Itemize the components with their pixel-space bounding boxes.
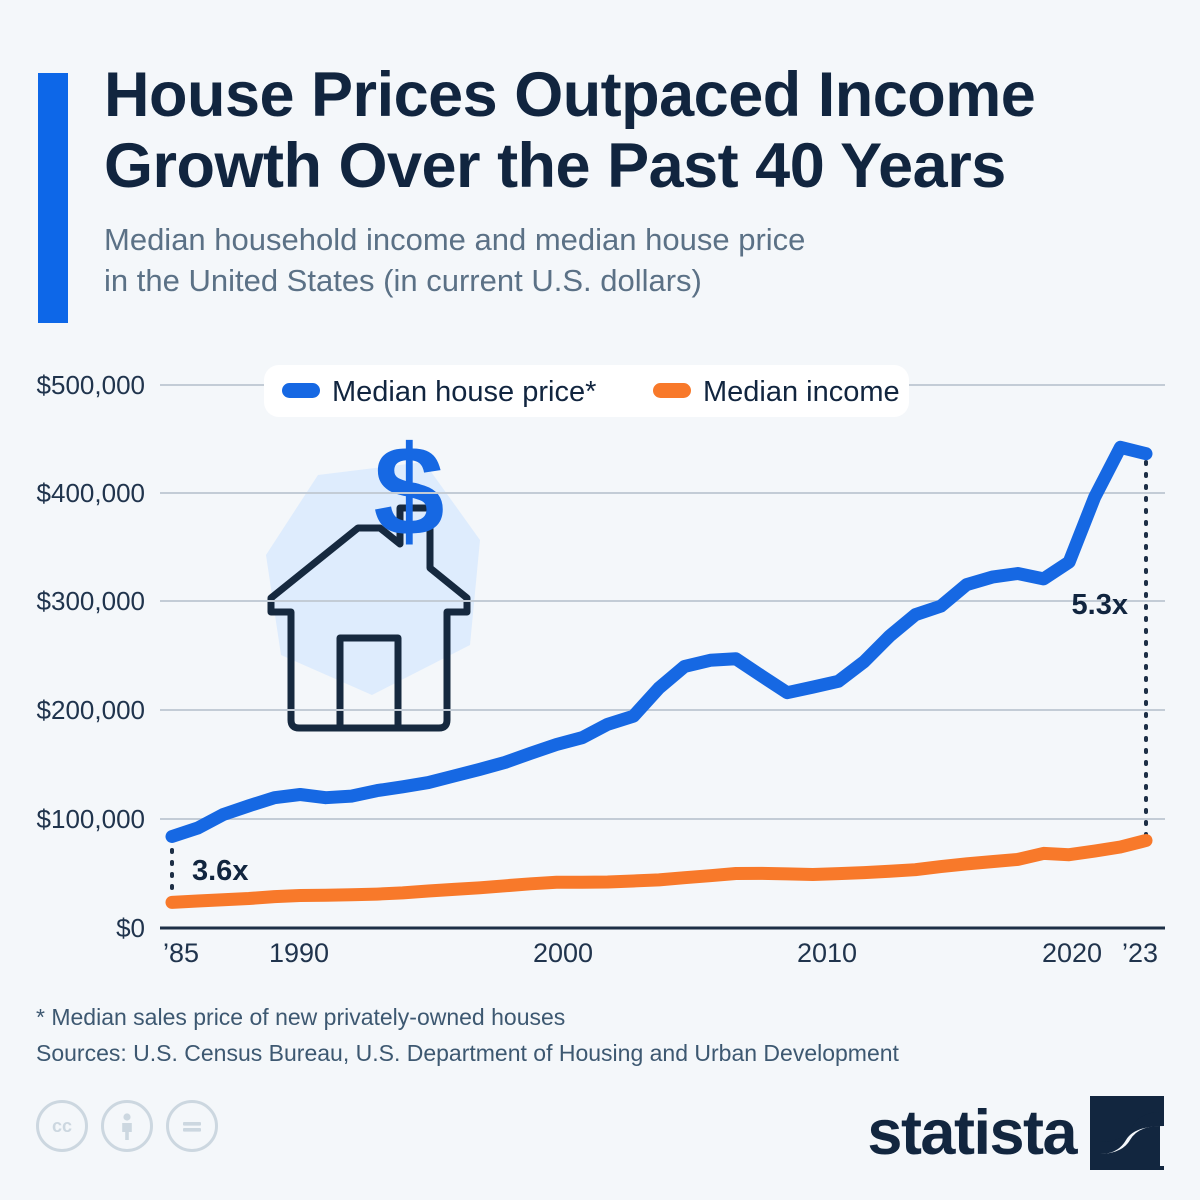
accent-bar — [38, 73, 68, 323]
annotation-5-3x: 5.3x — [1072, 589, 1128, 621]
dollar-sign-icon: $ — [373, 420, 444, 563]
y-tick-200k: $200,000 — [37, 695, 145, 725]
bottom-bar: cc statista — [0, 1090, 1200, 1190]
y-tick-500k: $500,000 — [37, 370, 145, 400]
cc-icon[interactable]: cc — [36, 1100, 88, 1152]
page-title: House Prices Outpaced Income Growth Over… — [104, 60, 1158, 201]
y-tick-0: $0 — [116, 913, 145, 943]
svg-text:cc: cc — [52, 1116, 72, 1136]
line-chart: $ $500,000 $400,000 $300,000 $200,000 $1… — [0, 350, 1200, 980]
footnote-text: * Median sales price of new privately-ow… — [36, 1000, 1136, 1036]
subtitle-line-2: in the United States (in current U.S. do… — [104, 260, 1158, 301]
median-income-line — [172, 841, 1146, 903]
chart-legend: Median house price* Median income — [264, 365, 909, 417]
annotation-3-6x: 3.6x — [192, 855, 248, 887]
legend-label-median-income: Median income — [703, 376, 900, 408]
footnotes: * Median sales price of new privately-ow… — [36, 1000, 1136, 1071]
x-tick-2023: ’23 — [1122, 938, 1158, 968]
legend-swatch-median-income — [653, 383, 691, 398]
header: House Prices Outpaced Income Growth Over… — [38, 60, 1158, 323]
header-text-group: House Prices Outpaced Income Growth Over… — [68, 60, 1158, 323]
statista-wordmark: statista — [867, 1102, 1076, 1165]
x-tick-1985: ’85 — [163, 938, 199, 968]
chart-container: $ $500,000 $400,000 $300,000 $200,000 $1… — [0, 350, 1200, 980]
y-tick-400k: $400,000 — [37, 478, 145, 508]
x-tick-2010: 2010 — [797, 938, 857, 968]
sources-text: Sources: U.S. Census Bureau, U.S. Depart… — [36, 1036, 1136, 1072]
page-subtitle: Median household income and median house… — [104, 219, 1158, 301]
house-watermark: $ — [266, 420, 480, 728]
legend-swatch-median-house-price — [282, 383, 320, 398]
x-tick-1990: 1990 — [269, 938, 329, 968]
subtitle-line-1: Median household income and median house… — [104, 219, 1158, 260]
statista-mark-icon — [1090, 1096, 1164, 1170]
y-tick-100k: $100,000 — [37, 804, 145, 834]
no-derivatives-equals-icon[interactable] — [166, 1100, 218, 1152]
infographic-root: House Prices Outpaced Income Growth Over… — [0, 0, 1200, 1200]
y-axis-labels: $500,000 $400,000 $300,000 $200,000 $100… — [37, 370, 145, 943]
svg-text:$: $ — [373, 420, 444, 563]
x-tick-2000: 2000 — [533, 938, 593, 968]
attribution-person-icon[interactable] — [101, 1100, 153, 1152]
statista-logo[interactable]: statista — [867, 1096, 1164, 1170]
creative-commons-icons: cc — [36, 1100, 218, 1152]
x-axis-labels: ’85 1990 2000 2010 2020 ’23 — [163, 938, 1158, 968]
grid-lines — [160, 385, 1165, 819]
legend-label-median-house-price: Median house price* — [332, 376, 596, 408]
y-tick-300k: $300,000 — [37, 586, 145, 616]
x-tick-2020: 2020 — [1042, 938, 1102, 968]
